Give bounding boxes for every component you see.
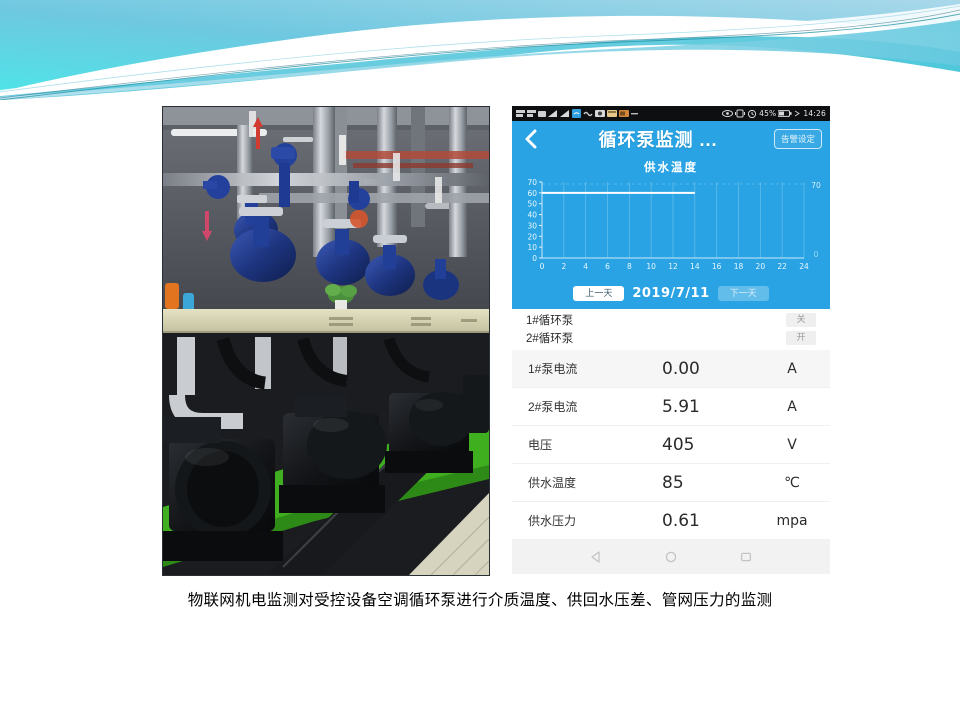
measurement-value: 405 [648,435,770,455]
supply-water-temperature-chart[interactable]: 010203040506070024681012141618202224700 [512,176,830,281]
next-day-button[interactable]: 下一天 [718,286,769,301]
measurement-unit: ℃ [770,475,814,491]
link-icon [583,109,593,118]
alarm-icon [747,109,757,118]
measurement-value: 0.61 [648,511,770,531]
camera-icon [595,109,605,118]
chevron-left-icon [523,129,539,149]
app-titlebar: 循环泵监测 ... 告警设定 [512,121,830,157]
chart-x-tick-label: 20 [756,262,766,271]
measurement-row: 1#泵电流0.00A [512,350,830,388]
chart-y-tick-label: 60 [527,189,537,198]
phone-screenshot: 45% 14:26 循环泵监测 ... 告警设定 供水温度 0102030405… [512,106,830,574]
chart-x-tick-label: 8 [627,262,632,271]
chart-x-tick-label: 2 [561,262,566,271]
chart-y-tick-label: 50 [527,200,537,209]
pump-name-label: 2#循环泵 [526,330,786,346]
measurement-list: 1#泵电流0.00A2#泵电流5.91A电压405V供水温度85℃供水压力0.6… [512,350,830,540]
chart-y-tick-label: 70 [527,178,537,187]
battery-percent-label: 45% [759,110,776,118]
slide-caption: 物联网机电监测对受控设备空调循环泵进行介质温度、供回水压差、管网压力的监测 [0,588,960,610]
notification-icon [516,109,525,118]
measurement-value: 85 [648,473,770,493]
wifi-icon [572,109,581,118]
sdcard-icon [607,109,617,118]
signal-icon [560,109,570,118]
pump-state-badge: 开 [786,331,816,344]
chart-y-tick-label: 30 [527,221,537,230]
mechanical-room-photo [162,106,490,576]
signal-icon [548,109,558,118]
measurement-value: 0.00 [648,359,770,379]
status-bar-right-icons: 45% 14:26 [722,109,826,118]
pump-status-row: 1#循环泵关 [512,311,830,329]
measurement-label: 供水温度 [528,474,648,491]
chart-x-tick-label: 14 [690,262,700,271]
chart-x-tick-label: 24 [799,262,809,271]
measurement-row: 供水压力0.61mpa [512,502,830,540]
chart-x-tick-label: 18 [734,262,744,271]
slide-header-decoration [0,0,960,100]
eye-icon [722,109,733,118]
back-button[interactable] [520,128,542,150]
chart-y-tick-label: 10 [527,243,537,252]
battery-icon [778,109,792,118]
measurement-unit: mpa [770,513,814,529]
chart-title: 供水温度 [512,159,830,175]
recents-square-icon[interactable] [739,550,753,564]
measurement-row: 电压405V [512,426,830,464]
vibrate-icon [735,109,745,118]
chart-x-tick-label: 22 [777,262,787,271]
pump-status-list: 1#循环泵关2#循环泵开 [512,309,830,350]
chart-y-tick-label: 20 [527,232,537,241]
chart-right-axis-label: 0 [814,250,819,259]
pump-name-label: 1#循环泵 [526,312,786,328]
page-title: 循环泵监测 ... [542,126,774,152]
chart-x-tick-label: 6 [605,262,610,271]
measurement-unit: A [770,361,814,377]
notification-icon [527,109,536,118]
measurement-unit: A [770,399,814,415]
pump-state-badge: 关 [786,313,816,326]
chart-panel: 供水温度 01020304050607002468101214161820222… [512,157,830,281]
measurement-label: 电压 [528,436,648,453]
alarm-settings-button[interactable]: 告警设定 [774,129,822,149]
status-bar-left-icons [516,109,638,118]
minus-icon [631,109,638,118]
chart-y-tick-label: 40 [527,211,537,220]
measurement-unit: V [770,437,814,453]
chart-x-tick-label: 16 [712,262,722,271]
chart-right-axis-label: 70 [811,181,821,190]
current-date-label: 2019/7/11 [632,286,709,301]
chart-x-tick-label: 10 [646,262,656,271]
measurement-row: 2#泵电流5.91A [512,388,830,426]
file-icon [619,109,629,118]
android-navigation-bar [512,540,830,574]
chart-x-tick-label: 4 [583,262,588,271]
home-circle-icon[interactable] [664,550,678,564]
sim-icon [538,109,546,118]
measurement-label: 2#泵电流 [528,398,648,415]
status-bar-clock: 14:26 [803,110,826,118]
android-status-bar: 45% 14:26 [512,106,830,121]
measurement-row: 供水温度85℃ [512,464,830,502]
chart-x-tick-label: 0 [540,262,545,271]
previous-day-button[interactable]: 上一天 [573,286,624,301]
pump-status-row: 2#循环泵开 [512,329,830,347]
chart-x-tick-label: 12 [668,262,678,271]
measurement-value: 5.91 [648,397,770,417]
chevron-right-icon [794,109,801,118]
back-triangle-icon[interactable] [589,550,603,564]
measurement-label: 1#泵电流 [528,360,648,377]
chart-y-tick-label: 0 [532,254,537,263]
date-navigation: 上一天 2019/7/11 下一天 [512,281,830,309]
measurement-label: 供水压力 [528,512,648,529]
